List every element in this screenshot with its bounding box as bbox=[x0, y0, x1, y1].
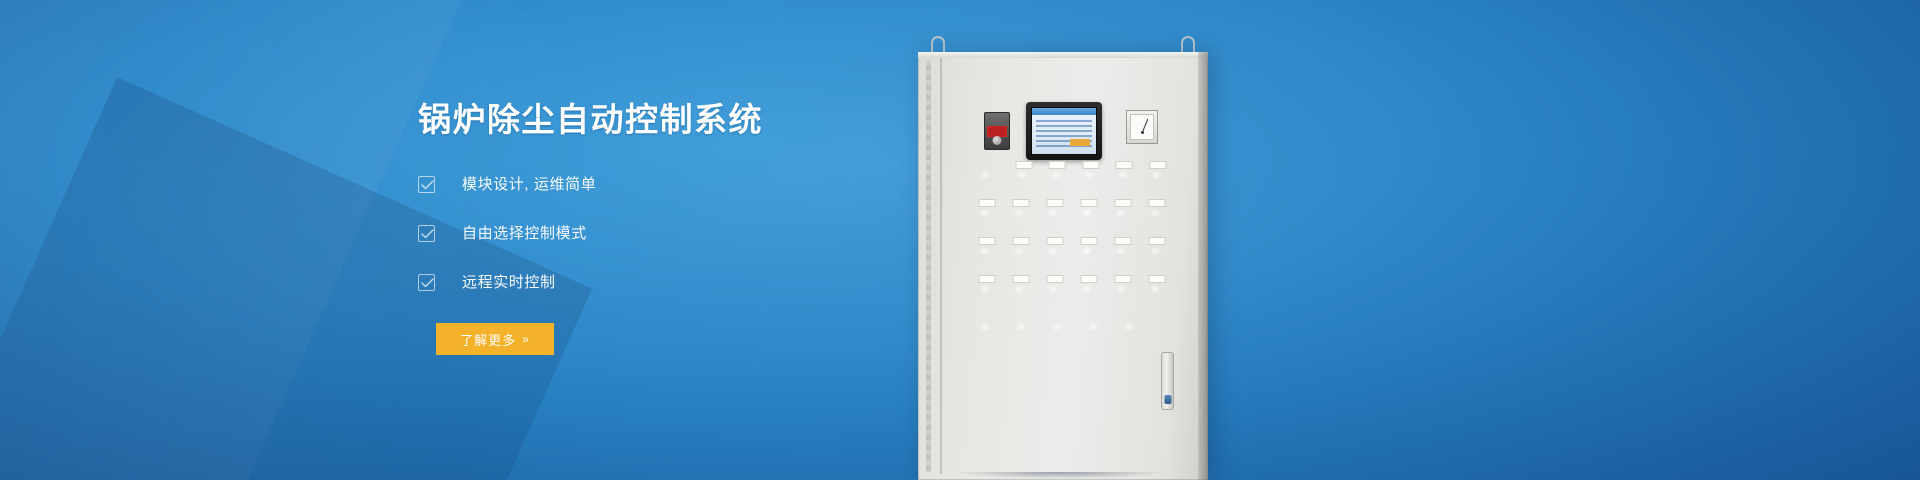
lamp-label-tag bbox=[1046, 275, 1063, 283]
digital-meter bbox=[984, 112, 1010, 150]
lamp-label-tag bbox=[1015, 161, 1032, 169]
check-square-icon bbox=[418, 176, 435, 193]
lamp-cell[interactable] bbox=[1050, 322, 1066, 338]
digital-meter-display bbox=[987, 126, 1007, 137]
lamp-label-tag bbox=[1046, 199, 1063, 207]
lamp-label-tag bbox=[1081, 199, 1098, 207]
lamp-cell[interactable] bbox=[978, 208, 996, 228]
lamp-label-tag bbox=[978, 237, 995, 245]
lamp-label-tag bbox=[1149, 161, 1166, 169]
lamp-cell[interactable] bbox=[1148, 246, 1166, 266]
cabinet-hinge bbox=[926, 60, 931, 472]
banner-copy: 锅炉除尘自动控制系统 模块设计, 运维简单 自由选择控制模式 bbox=[418, 98, 938, 355]
lamp-label-tag bbox=[978, 199, 995, 207]
cabinet-door-handle[interactable] bbox=[1161, 352, 1174, 410]
lamp-cell[interactable] bbox=[1012, 246, 1030, 266]
hmi-screen bbox=[1031, 107, 1097, 155]
lamp-cell[interactable] bbox=[1046, 284, 1064, 304]
feature-item-1: 自由选择控制模式 bbox=[418, 217, 938, 250]
analog-gauge-face bbox=[1130, 114, 1154, 140]
lamp-cell[interactable] bbox=[1149, 170, 1166, 190]
hmi-data-row bbox=[1036, 135, 1092, 137]
lamp-label-tag bbox=[1115, 237, 1132, 245]
hmi-touchscreen bbox=[1026, 102, 1102, 160]
lamp-cell[interactable] bbox=[1148, 208, 1166, 228]
lamp-label-tag bbox=[1115, 199, 1132, 207]
digital-meter-knob bbox=[993, 136, 1002, 145]
lamp-cell[interactable] bbox=[1014, 322, 1030, 338]
lamp-cell[interactable] bbox=[1015, 170, 1032, 190]
lamp-label-tag bbox=[1115, 275, 1132, 283]
lamp-cell[interactable] bbox=[978, 322, 994, 338]
check-square-icon bbox=[418, 274, 435, 291]
chevron-right-icon: » bbox=[522, 333, 530, 345]
learn-more-button[interactable]: 了解更多 » bbox=[436, 323, 554, 355]
feature-label: 自由选择控制模式 bbox=[462, 224, 587, 244]
lamp-row bbox=[978, 284, 1166, 304]
lamp-cell[interactable] bbox=[1082, 170, 1099, 190]
lamp-label-tag bbox=[1049, 161, 1066, 169]
hmi-data-row bbox=[1036, 125, 1092, 127]
check-square-icon bbox=[418, 225, 435, 242]
lamp-cell[interactable] bbox=[1114, 284, 1132, 304]
lamp-label-tag bbox=[978, 275, 995, 283]
lamp-cell[interactable] bbox=[1114, 246, 1132, 266]
lamp-cell[interactable] bbox=[1122, 322, 1138, 338]
lamp-label-tag bbox=[1149, 237, 1166, 245]
lamp-label-tag bbox=[1149, 275, 1166, 283]
hmi-status-block bbox=[1070, 139, 1090, 146]
lamp-cell[interactable] bbox=[1012, 284, 1030, 304]
control-cabinet bbox=[918, 52, 1208, 480]
lamp-row bbox=[978, 246, 1166, 266]
cabinet-shadow bbox=[910, 472, 1210, 480]
lamp-cell[interactable] bbox=[978, 170, 995, 190]
analog-gauge bbox=[1126, 110, 1158, 144]
lamp-label-tag bbox=[1116, 161, 1133, 169]
lamp-cell[interactable] bbox=[1049, 170, 1066, 190]
analog-gauge-pivot bbox=[1141, 131, 1144, 134]
lamp-label-tag bbox=[1012, 275, 1029, 283]
lamp-label-tag bbox=[1012, 199, 1029, 207]
lamp-cell[interactable] bbox=[1086, 322, 1102, 338]
lamp-cell[interactable] bbox=[978, 284, 996, 304]
lamp-row bbox=[978, 322, 1166, 338]
lamp-cell[interactable] bbox=[1148, 284, 1166, 304]
lamp-label-tag bbox=[1082, 161, 1099, 169]
product-image bbox=[900, 0, 1320, 480]
lamp-label-tag bbox=[1081, 237, 1098, 245]
lamp-cell[interactable] bbox=[1080, 284, 1098, 304]
lamp-cell[interactable] bbox=[978, 246, 996, 266]
hero-banner: 锅炉除尘自动控制系统 模块设计, 运维简单 自由选择控制模式 bbox=[0, 0, 1920, 480]
hmi-data-row bbox=[1036, 120, 1092, 122]
cabinet-lock-icon bbox=[1164, 395, 1171, 404]
cabinet-right-edge bbox=[1198, 52, 1208, 480]
lamp-label-tag bbox=[1012, 237, 1029, 245]
feature-item-0: 模块设计, 运维简单 bbox=[418, 168, 938, 201]
lamp-cell[interactable] bbox=[1046, 208, 1064, 228]
hmi-title-bar bbox=[1032, 108, 1096, 115]
lamp-cell[interactable] bbox=[1114, 208, 1132, 228]
lamp-cell[interactable] bbox=[1116, 170, 1133, 190]
feature-label: 模块设计, 运维简单 bbox=[462, 175, 596, 195]
indicator-lamp-grid bbox=[978, 170, 1166, 356]
lamp-row bbox=[978, 208, 1166, 228]
feature-item-2: 远程实时控制 bbox=[418, 266, 938, 299]
lamp-cell[interactable] bbox=[1046, 246, 1064, 266]
feature-list: 模块设计, 运维简单 自由选择控制模式 远程实时控制 bbox=[418, 168, 938, 299]
lamp-cell[interactable] bbox=[1080, 246, 1098, 266]
cabinet-top-edge bbox=[918, 52, 1208, 58]
lamp-label-tag bbox=[1149, 199, 1166, 207]
feature-label: 远程实时控制 bbox=[462, 273, 556, 293]
learn-more-label: 了解更多 bbox=[460, 330, 516, 349]
lamp-label-tag bbox=[1081, 275, 1098, 283]
lamp-row bbox=[978, 170, 1166, 190]
hmi-data-row bbox=[1036, 130, 1092, 132]
cabinet-door-seam bbox=[940, 58, 942, 474]
lamp-cell[interactable] bbox=[1012, 208, 1030, 228]
page-title: 锅炉除尘自动控制系统 bbox=[418, 98, 938, 142]
lamp-label-tag bbox=[1046, 237, 1063, 245]
lamp-cell[interactable] bbox=[1080, 208, 1098, 228]
